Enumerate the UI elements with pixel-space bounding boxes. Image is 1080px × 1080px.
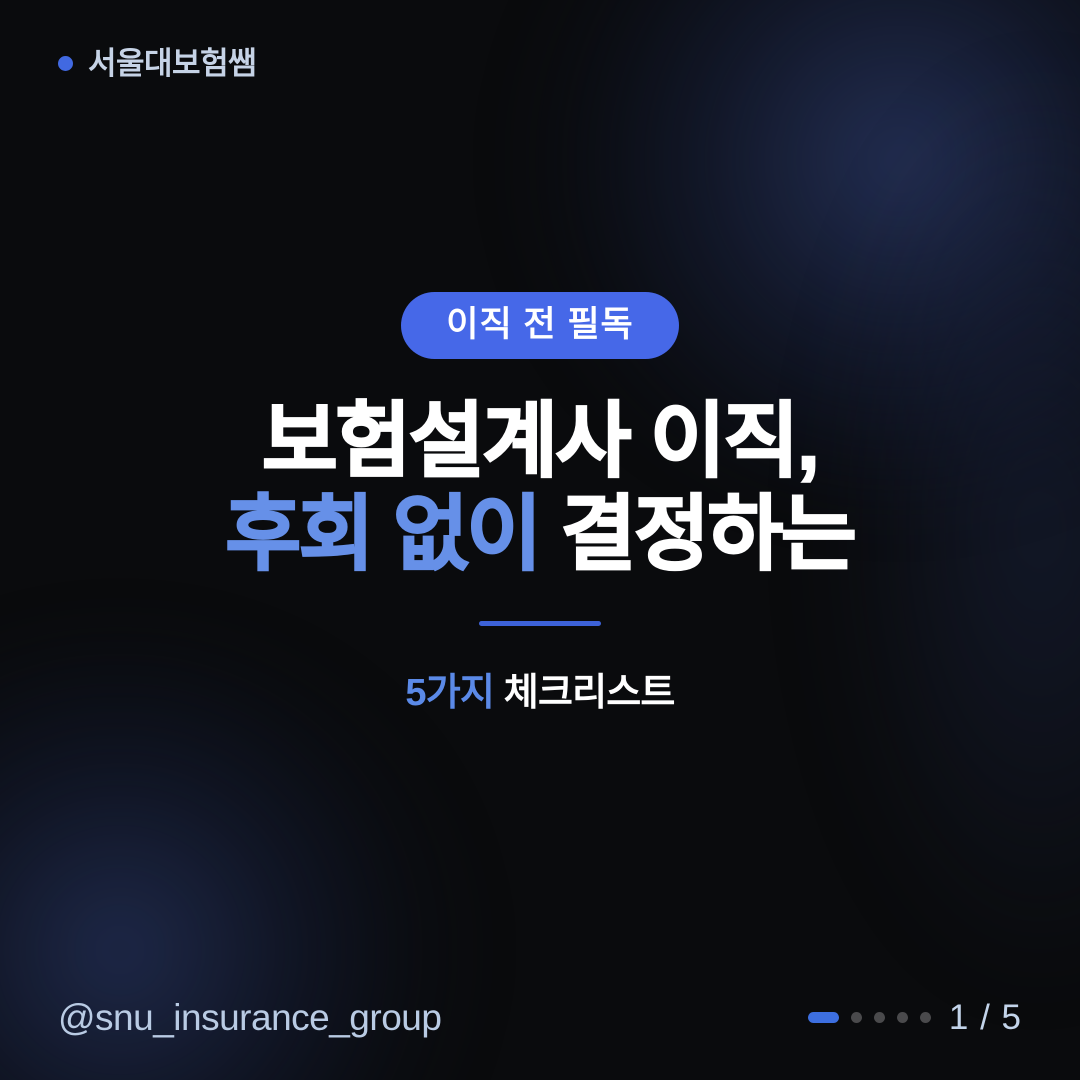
pagination-dot[interactable] bbox=[874, 1012, 885, 1023]
headline-highlight: 후회 없이 bbox=[225, 489, 540, 580]
page-title: 보험설계사 이직, 후회 없이 결정하는 bbox=[225, 396, 854, 581]
headline-line-2-rest: 결정하는 bbox=[561, 489, 855, 580]
pagination-dot[interactable] bbox=[920, 1012, 931, 1023]
brand-logo: 서울대보험쌤 bbox=[58, 48, 256, 79]
headline-line-2: 후회 없이 결정하는 bbox=[225, 489, 854, 582]
headline-line-1: 보험설계사 이직, bbox=[225, 396, 854, 489]
pagination-dot[interactable] bbox=[897, 1012, 908, 1023]
hero-badge: 이직 전 필독 bbox=[401, 292, 678, 359]
subtitle-highlight: 5가지 bbox=[405, 672, 494, 714]
account-handle: @snu_insurance_group bbox=[58, 999, 441, 1036]
section-divider bbox=[479, 621, 601, 626]
pagination: 1 / 5 bbox=[808, 1000, 1022, 1035]
footer-bar: @snu_insurance_group 1 / 5 bbox=[58, 999, 1022, 1036]
hero-section: 이직 전 필독 보험설계사 이직, 후회 없이 결정하는 5가지 체크리스트 bbox=[0, 292, 1080, 712]
slide-card: 서울대보험쌤 이직 전 필독 보험설계사 이직, 후회 없이 결정하는 5가지 … bbox=[0, 0, 1080, 1080]
hero-subtitle: 5가지 체크리스트 bbox=[405, 674, 674, 712]
pagination-dot[interactable] bbox=[851, 1012, 862, 1023]
page-counter: 1 / 5 bbox=[949, 1000, 1022, 1035]
brand-name-label: 서울대보험쌤 bbox=[88, 48, 256, 79]
bullet-dot-icon bbox=[58, 56, 73, 71]
pagination-dot-active[interactable] bbox=[808, 1012, 839, 1023]
subtitle-rest: 체크리스트 bbox=[504, 672, 675, 714]
pagination-dots[interactable] bbox=[808, 1012, 931, 1023]
